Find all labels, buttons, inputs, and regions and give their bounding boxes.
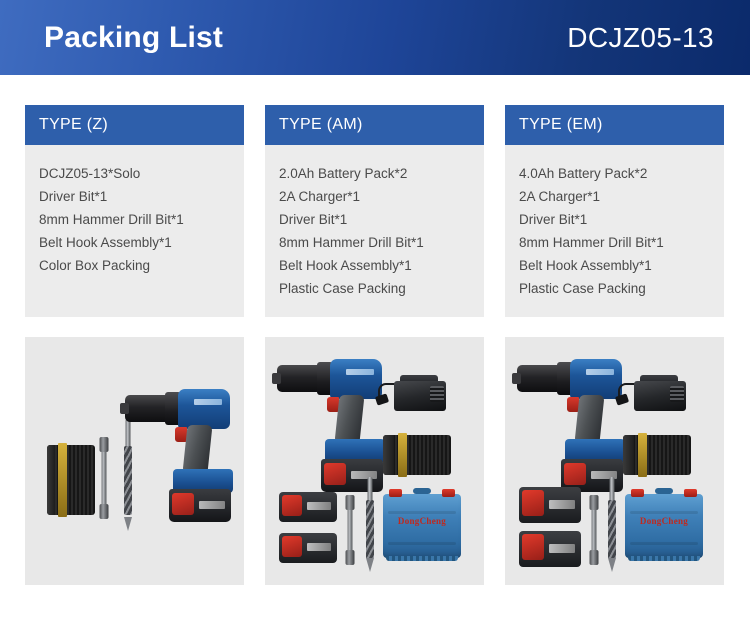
spec-item: Driver Bit*1 [519, 208, 714, 231]
cordless-drill-icon [125, 385, 240, 525]
cordless-drill-icon [277, 355, 392, 495]
spec-item: 8mm Hammer Drill Bit*1 [279, 231, 474, 254]
hammer-drill-bit-icon [605, 477, 619, 572]
spec-item: 8mm Hammer Drill Bit*1 [519, 231, 714, 254]
spec-item: Plastic Case Packing [279, 277, 474, 300]
spec-item: Belt Hook Assembly*1 [279, 254, 474, 277]
spec-item: 2A Charger*1 [279, 185, 474, 208]
spec-item: DCJZ05-13*Solo [39, 162, 234, 185]
plastic-case-icon: DongCheng [625, 489, 703, 563]
spec-item: Driver Bit*1 [39, 185, 234, 208]
case-brand-label: DongCheng [383, 516, 461, 526]
type-label: TYPE (EM) [519, 116, 603, 134]
product-images-row: DongCheng [25, 337, 725, 585]
battery-pack-icon [279, 533, 337, 563]
spec-card-body: DCJZ05-13*Solo Driver Bit*1 8mm Hammer D… [25, 145, 244, 317]
hammer-drill-bit-icon [363, 477, 377, 572]
spec-card-header: TYPE (EM) [505, 105, 724, 145]
spec-card-header: TYPE (AM) [265, 105, 484, 145]
packing-list-page: Packing List DCJZ05-13 TYPE (Z) DCJZ05-1… [0, 0, 750, 621]
belt-hook-strap-icon [623, 435, 691, 475]
spec-item: Color Box Packing [39, 254, 234, 277]
spec-item: Driver Bit*1 [279, 208, 474, 231]
case-brand-label: DongCheng [625, 516, 703, 526]
spec-item: 8mm Hammer Drill Bit*1 [39, 208, 234, 231]
spec-item: 4.0Ah Battery Pack*2 [519, 162, 714, 185]
belt-hook-strap-icon [383, 435, 451, 475]
model-number: DCJZ05-13 [567, 24, 714, 52]
type-z-contents-image [25, 337, 244, 585]
spec-item: Belt Hook Assembly*1 [519, 254, 714, 277]
type-em-contents-image: DongCheng [505, 337, 724, 585]
driver-bit-icon [343, 495, 357, 565]
battery-pack-icon [279, 492, 337, 522]
spec-cards-row: TYPE (Z) DCJZ05-13*Solo Driver Bit*1 8mm… [25, 105, 725, 317]
spec-card-type-am: TYPE (AM) 2.0Ah Battery Pack*2 2A Charge… [265, 105, 484, 317]
charger-icon [618, 375, 693, 417]
belt-hook-strap-icon [47, 445, 95, 515]
charger-icon [378, 375, 453, 417]
battery-pack-icon [519, 487, 581, 523]
battery-pack-icon [519, 531, 581, 567]
spec-card-type-em: TYPE (EM) 4.0Ah Battery Pack*2 2A Charge… [505, 105, 724, 317]
type-label: TYPE (Z) [39, 116, 108, 134]
spec-item: 2A Charger*1 [519, 185, 714, 208]
page-header: Packing List DCJZ05-13 [0, 0, 750, 75]
cordless-drill-icon [517, 355, 632, 495]
plastic-case-icon: DongCheng [383, 489, 461, 563]
spec-item: 2.0Ah Battery Pack*2 [279, 162, 474, 185]
type-label: TYPE (AM) [279, 116, 363, 134]
driver-bit-icon [97, 437, 111, 519]
driver-bit-icon [587, 495, 601, 565]
spec-card-type-z: TYPE (Z) DCJZ05-13*Solo Driver Bit*1 8mm… [25, 105, 244, 317]
spec-card-body: 4.0Ah Battery Pack*2 2A Charger*1 Driver… [505, 145, 724, 317]
spec-item: Plastic Case Packing [519, 277, 714, 300]
spec-item: Belt Hook Assembly*1 [39, 231, 234, 254]
page-title: Packing List [44, 23, 223, 53]
spec-card-header: TYPE (Z) [25, 105, 244, 145]
type-am-contents-image: DongCheng [265, 337, 484, 585]
spec-card-body: 2.0Ah Battery Pack*2 2A Charger*1 Driver… [265, 145, 484, 317]
